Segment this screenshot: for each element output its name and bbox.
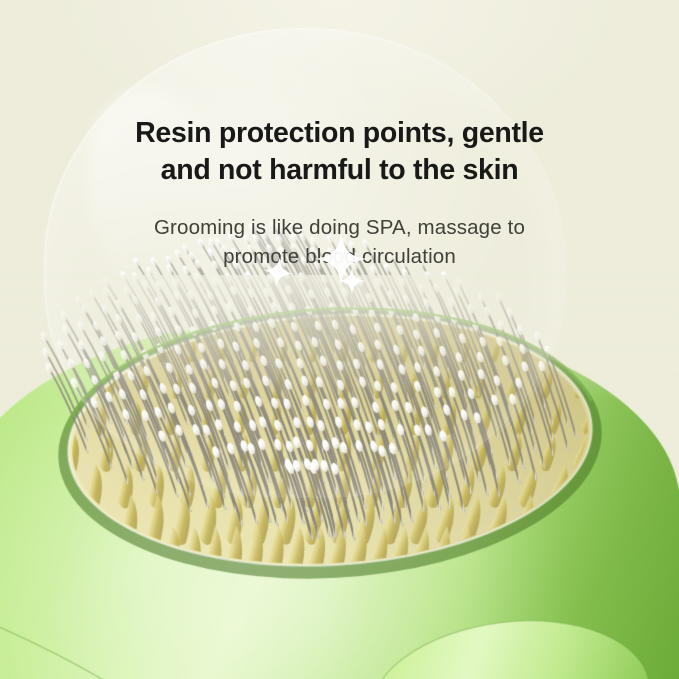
subtitle-line-1: Grooming is like doing SPA, massage to bbox=[0, 213, 679, 243]
product-feature-banner: Resin protection points, gentle and not … bbox=[0, 0, 679, 679]
page-title: Resin protection points, gentle and not … bbox=[0, 115, 679, 189]
page-subtitle: Grooming is like doing SPA, massage to p… bbox=[0, 213, 679, 273]
dome-bubble-highlight bbox=[59, 69, 276, 344]
product-image bbox=[0, 0, 679, 679]
grooming-brush-illustration bbox=[0, 0, 679, 679]
subtitle-line-2: promote blood circulation bbox=[0, 242, 679, 272]
headline-line-1: Resin protection points, gentle bbox=[0, 115, 679, 152]
headline-line-2: and not harmful to the skin bbox=[0, 152, 679, 189]
